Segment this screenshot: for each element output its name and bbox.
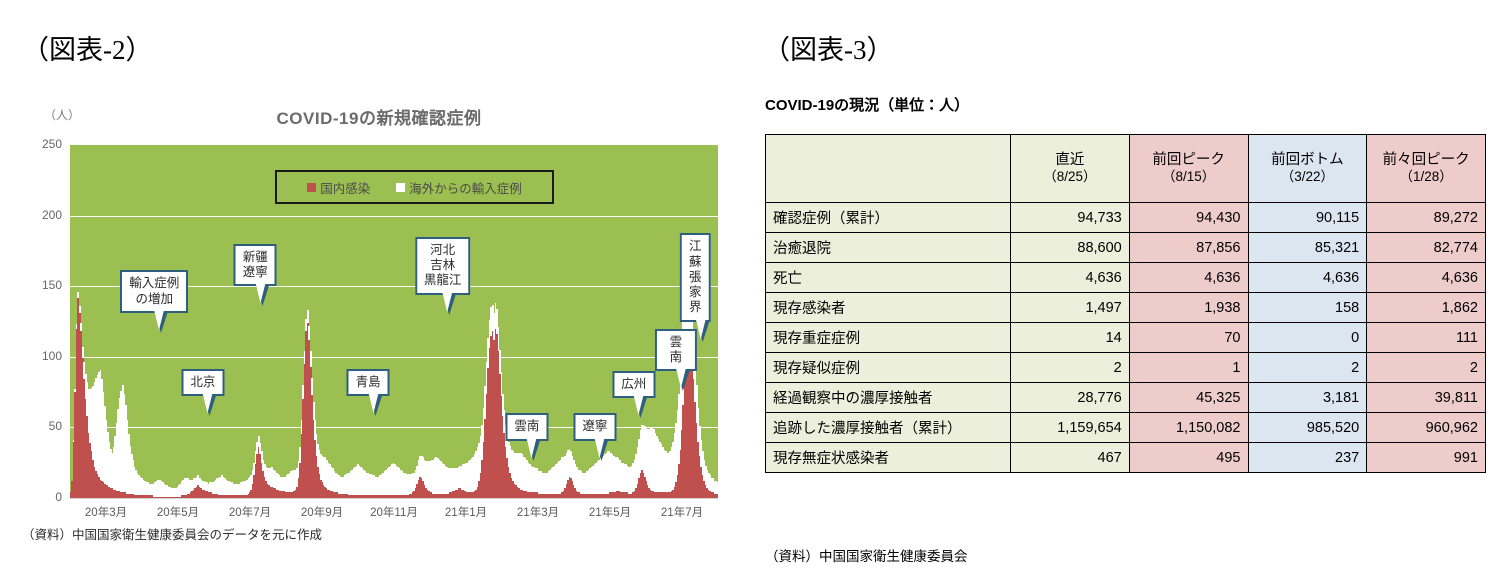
table-column-header: 前回ピーク（8/15） xyxy=(1129,135,1248,203)
table-column-header: 直近（8/25） xyxy=(1011,135,1130,203)
table-cell-value: 0 xyxy=(1248,323,1367,353)
table-cell-value: 495 xyxy=(1129,443,1248,473)
legend-item-imported: 海外からの輸入症例 xyxy=(396,178,522,197)
page-root: （図表-2） COVID-19の新規確認症例 （人） 0501001502002… xyxy=(0,0,1499,583)
callout-tail-inner xyxy=(255,283,265,303)
table-row: 現存無症状感染者467495237991 xyxy=(766,443,1486,473)
column-header-date: （8/15） xyxy=(1137,169,1241,186)
table-cell-value: 28,776 xyxy=(1011,383,1130,413)
table-cell-value: 94,733 xyxy=(1011,203,1130,233)
figure-2-panel: （図表-2） COVID-19の新規確認症例 （人） 0501001502002… xyxy=(0,0,755,583)
table-cell-value: 2 xyxy=(1011,353,1130,383)
chart-legend: 国内感染 海外からの輸入症例 xyxy=(275,170,554,204)
callout-line: 黒龍江 xyxy=(424,273,462,288)
column-header-title: 前回ボトム xyxy=(1271,152,1344,168)
legend-swatch-domestic xyxy=(307,183,316,192)
callout-line: 河北 xyxy=(424,243,462,258)
row-label: 確認症例（累計） xyxy=(766,203,1011,233)
table-cell-value: 237 xyxy=(1248,443,1367,473)
table-cell-value: 88,600 xyxy=(1011,233,1130,263)
table-cell-value: 3,181 xyxy=(1248,383,1367,413)
x-axis-tick-label: 20年3月 xyxy=(85,504,127,520)
callout-tail-inner xyxy=(443,292,453,312)
chart-annotation-callout: 河北吉林黒龍江 xyxy=(415,237,471,295)
row-label: 死亡 xyxy=(766,263,1011,293)
figure-2-caption: （図表-2） xyxy=(22,28,153,67)
table-header-row: 直近（8/25）前回ピーク（8/15）前回ボトム（3/22）前々回ピーク（1/2… xyxy=(766,135,1486,203)
x-axis-tick-label: 21年7月 xyxy=(661,504,703,520)
x-axis-tick-label: 20年11月 xyxy=(370,504,418,520)
table-row: 死亡4,6364,6364,6364,636 xyxy=(766,263,1486,293)
table-row: 現存疑似症例2122 xyxy=(766,353,1486,383)
x-axis-tick-label: 21年3月 xyxy=(517,504,559,520)
callout-tail-inner xyxy=(368,393,378,413)
callout-line: 北京 xyxy=(190,375,215,390)
callout-line: 江蘇 xyxy=(689,239,702,270)
table-cell-value: 4,636 xyxy=(1248,263,1367,293)
callout-tail-inner xyxy=(527,438,537,458)
table-cell-value: 87,856 xyxy=(1129,233,1248,263)
table-cell-value: 4,636 xyxy=(1011,263,1130,293)
column-header-title: 前々回ピーク xyxy=(1383,152,1470,168)
chart-annotation-callout: 新疆遼寧 xyxy=(234,244,277,287)
table-row: 治癒退院88,60087,85685,32182,774 xyxy=(766,233,1486,263)
table-cell-value: 45,325 xyxy=(1129,383,1248,413)
x-axis-tick-label: 20年7月 xyxy=(229,504,271,520)
row-label: 現存重症症例 xyxy=(766,323,1011,353)
chart-plot-area: 輸入症例の増加新疆遼寧北京青島河北吉林黒龍江雲南遼寧広州雲南江蘇張家界 国内感染… xyxy=(70,145,718,498)
callout-line: 雲南 xyxy=(514,419,539,434)
callout-line: の増加 xyxy=(129,292,179,307)
table-cell-value: 985,520 xyxy=(1248,413,1367,443)
covid-status-table: 直近（8/25）前回ピーク（8/15）前回ボトム（3/22）前々回ピーク（1/2… xyxy=(765,134,1486,473)
figure-3-panel: （図表-3） COVID-19の現況（単位：人） 直近（8/25）前回ピーク（8… xyxy=(755,0,1499,583)
table-cell-value: 1 xyxy=(1129,353,1248,383)
callout-line: 広州 xyxy=(621,377,646,392)
legend-label-domestic: 国内感染 xyxy=(320,178,370,197)
table-cell-value: 111 xyxy=(1367,323,1486,353)
callout-tail-inner xyxy=(634,395,644,415)
table-cell-value: 82,774 xyxy=(1367,233,1486,263)
column-header-title: 前回ピーク xyxy=(1152,152,1225,168)
table-cell-value: 89,272 xyxy=(1367,203,1486,233)
chart-annotation-callout: 広州 xyxy=(612,371,655,398)
row-label: 追跡した濃厚接触者（累計） xyxy=(766,413,1011,443)
table-row: 現存感染者1,4971,9381581,862 xyxy=(766,293,1486,323)
callout-line: 張家界 xyxy=(689,270,702,316)
chart-bar xyxy=(717,145,718,498)
table-cell-value: 14 xyxy=(1011,323,1130,353)
covid-new-cases-chart: COVID-19の新規確認症例 （人） 050100150200250 輸入症例… xyxy=(24,100,734,545)
x-axis-tick-label: 21年5月 xyxy=(589,504,631,520)
bar-segment-imported xyxy=(717,482,718,493)
chart-annotation-callout: 雲南 xyxy=(655,329,697,372)
callout-line: 輸入症例 xyxy=(129,276,179,291)
chart-annotation-callout: 雲南 xyxy=(505,413,548,440)
table-cell-value: 2 xyxy=(1367,353,1486,383)
table-cell-value: 39,811 xyxy=(1367,383,1486,413)
chart-annotation-callout: 輸入症例の増加 xyxy=(120,270,188,313)
y-axis-tick-label: 0 xyxy=(24,490,62,504)
table-column-header: 前々回ピーク（1/28） xyxy=(1367,135,1486,203)
table-cell-value: 85,321 xyxy=(1248,233,1367,263)
row-label: 経過観察中の濃厚接触者 xyxy=(766,383,1011,413)
x-axis-tick-label: 21年1月 xyxy=(445,504,487,520)
chart-annotation-callout: 江蘇張家界 xyxy=(680,233,711,321)
table-row: 現存重症症例14700111 xyxy=(766,323,1486,353)
callout-line: 吉林 xyxy=(424,258,462,273)
chart-annotation-callout: 北京 xyxy=(181,369,224,396)
table-header: 直近（8/25）前回ピーク（8/15）前回ボトム（3/22）前々回ピーク（1/2… xyxy=(766,135,1486,203)
table-title: COVID-19の現況（単位：人） xyxy=(765,94,969,115)
legend-swatch-imported xyxy=(396,183,405,192)
row-label: 現存無症状感染者 xyxy=(766,443,1011,473)
y-axis-tick-label: 100 xyxy=(24,349,62,363)
table-cell-value: 94,430 xyxy=(1129,203,1248,233)
table-cell-value: 4,636 xyxy=(1367,263,1486,293)
chart-title: COVID-19の新規確認症例 xyxy=(24,104,734,129)
table-cell-value: 960,962 xyxy=(1367,413,1486,443)
figure-2-source-note: （資料）中国国家衛生健康委員会のデータを元に作成 xyxy=(22,524,322,543)
callout-line: 青島 xyxy=(356,375,381,390)
legend-item-domestic: 国内感染 xyxy=(307,178,370,197)
callout-line: 遼寧 xyxy=(582,419,607,434)
column-header-date: （1/28） xyxy=(1374,169,1478,186)
table-cell-value: 70 xyxy=(1129,323,1248,353)
y-axis-tick-label: 250 xyxy=(24,137,62,151)
table-cell-value: 2 xyxy=(1248,353,1367,383)
table-corner-cell xyxy=(766,135,1011,203)
column-header-title: 直近 xyxy=(1055,152,1084,168)
row-label: 現存感染者 xyxy=(766,293,1011,323)
table-cell-value: 1,150,082 xyxy=(1129,413,1248,443)
y-axis-tick-label: 150 xyxy=(24,278,62,292)
callout-tail-inner xyxy=(676,368,686,388)
row-label: 治癒退院 xyxy=(766,233,1011,263)
chart-annotation-callout: 遼寧 xyxy=(573,413,616,440)
callout-tail-inner xyxy=(154,310,164,330)
x-axis-tick-label: 20年9月 xyxy=(301,504,343,520)
table-cell-value: 467 xyxy=(1011,443,1130,473)
table-cell-value: 158 xyxy=(1248,293,1367,323)
table-row: 確認症例（累計）94,73394,43090,11589,272 xyxy=(766,203,1486,233)
callout-line: 雲南 xyxy=(664,335,688,366)
y-axis-tick-label: 200 xyxy=(24,208,62,222)
table-column-header: 前回ボトム（3/22） xyxy=(1248,135,1367,203)
figure-3-caption: （図表-3） xyxy=(763,28,894,67)
callout-line: 新疆 xyxy=(243,250,268,265)
callout-line: 遼寧 xyxy=(243,265,268,280)
figure-3-source-note: （資料）中国国家衛生健康委員会 xyxy=(765,545,968,565)
x-axis-line xyxy=(70,498,718,499)
callout-tail-inner xyxy=(203,393,213,413)
legend-label-imported: 海外からの輸入症例 xyxy=(409,178,522,197)
table-body: 確認症例（累計）94,73394,43090,11589,272治癒退院88,6… xyxy=(766,203,1486,473)
table-cell-value: 1,497 xyxy=(1011,293,1130,323)
callout-tail-inner xyxy=(595,438,605,458)
table-cell-value: 1,938 xyxy=(1129,293,1248,323)
table-row: 経過観察中の濃厚接触者28,77645,3253,18139,811 xyxy=(766,383,1486,413)
y-axis-unit-label: （人） xyxy=(44,106,80,123)
table-row: 追跡した濃厚接触者（累計）1,159,6541,150,082985,52096… xyxy=(766,413,1486,443)
table-cell-value: 991 xyxy=(1367,443,1486,473)
row-label: 現存疑似症例 xyxy=(766,353,1011,383)
y-axis-tick-label: 50 xyxy=(24,419,62,433)
table-cell-value: 90,115 xyxy=(1248,203,1367,233)
chart-annotation-callout: 青島 xyxy=(347,369,390,396)
callout-tail-inner xyxy=(695,319,705,339)
x-axis-tick-label: 20年5月 xyxy=(157,504,199,520)
table-cell-value: 4,636 xyxy=(1129,263,1248,293)
column-header-date: （8/25） xyxy=(1018,169,1122,186)
table-cell-value: 1,159,654 xyxy=(1011,413,1130,443)
table-cell-value: 1,862 xyxy=(1367,293,1486,323)
column-header-date: （3/22） xyxy=(1256,169,1360,186)
